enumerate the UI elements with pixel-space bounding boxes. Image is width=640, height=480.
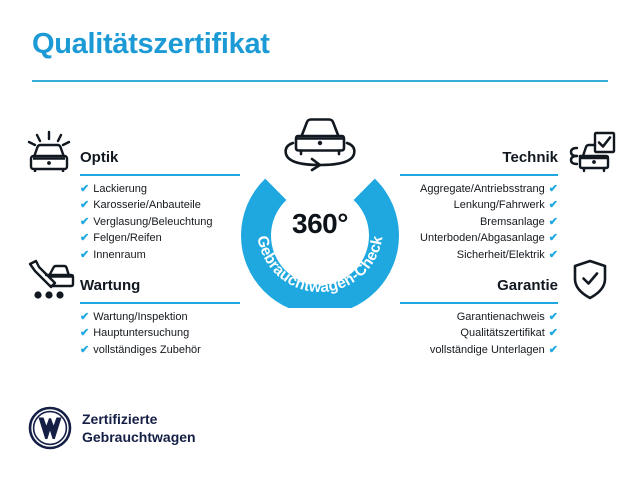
check-icon: ✔	[549, 232, 558, 244]
section-title: Wartung	[80, 277, 140, 294]
check-icon: ✔	[549, 183, 558, 195]
list-item: vollständige Unterlagen✔	[400, 342, 616, 358]
footer-text: Zertifizierte Gebrauchtwagen	[82, 410, 196, 446]
footer-line-2: Gebrauchtwagen	[82, 428, 196, 446]
list-item: Aggregate/Antriebsstrang✔	[400, 181, 616, 197]
section-rule	[80, 302, 240, 304]
list-item-label: Karosserie/Anbauteile	[93, 199, 201, 211]
list-item-label: vollständige Unterlagen	[430, 344, 545, 356]
list-item: ✔Karosserie/Anbauteile	[24, 197, 240, 213]
check-icon: ✔	[80, 327, 89, 339]
list-item-label: Garantienachweis	[457, 311, 545, 323]
section-rule	[400, 302, 558, 304]
check-icon: ✔	[80, 311, 89, 323]
list-item: Garantienachweis✔	[400, 309, 616, 325]
check-icon: ✔	[80, 183, 89, 195]
list-item-label: Felgen/Reifen	[93, 232, 162, 244]
list-item: Bremsanlage✔	[400, 214, 616, 230]
section-header: Optik	[24, 130, 240, 176]
check-icon: ✔	[549, 344, 558, 356]
car-rotate-icon	[278, 112, 362, 174]
list-item: ✔vollständiges Zubehör	[24, 342, 240, 358]
check-icon: ✔	[549, 216, 558, 228]
checklist: Aggregate/Antriebsstrang✔ Lenkung/Fahrwe…	[400, 176, 616, 263]
list-item-label: Lackierung	[93, 183, 147, 195]
list-item-label: Qualitätszertifikat	[460, 327, 544, 339]
check-icon: ✔	[549, 199, 558, 211]
list-item: ✔Verglasung/Beleuchtung	[24, 214, 240, 230]
page-title: Qualitätszertifikat	[32, 28, 270, 61]
list-item: ✔Lackierung	[24, 181, 240, 197]
list-item-label: Unterboden/Abgasanlage	[420, 232, 545, 244]
section-title: Technik	[502, 149, 558, 166]
section-rule	[80, 174, 240, 176]
section-header: Wartung	[24, 258, 240, 304]
section-optik: Optik ✔Lackierung ✔Karosserie/Anbauteile…	[24, 130, 240, 263]
list-item: ✔Felgen/Reifen	[24, 230, 240, 246]
car-shine-icon	[24, 130, 76, 174]
list-item-label: Wartung/Inspektion	[93, 311, 187, 323]
section-rule	[400, 174, 558, 176]
car-checkbox-icon	[564, 130, 616, 174]
footer-line-1: Zertifizierte	[82, 410, 196, 428]
list-item-label: Lenkung/Fahrwerk	[454, 199, 545, 211]
section-wartung: Wartung ✔Wartung/Inspektion ✔Hauptunters…	[24, 258, 240, 358]
list-item-label: Verglasung/Beleuchtung	[93, 216, 212, 228]
check-icon: ✔	[80, 232, 89, 244]
checklist: Garantienachweis✔ Qualitätszertifikat✔ v…	[400, 304, 616, 358]
check-icon: ✔	[80, 344, 89, 356]
check-icon: ✔	[549, 311, 558, 323]
certificate-page: Qualitätszertifikat	[0, 0, 640, 480]
section-title: Optik	[80, 149, 118, 166]
check-icon: ✔	[549, 327, 558, 339]
checklist: ✔Wartung/Inspektion ✔Hauptuntersuchung ✔…	[24, 304, 240, 358]
section-header: Garantie	[400, 258, 616, 304]
vw-logo-icon	[28, 406, 72, 450]
list-item-label: vollständiges Zubehör	[93, 344, 201, 356]
car-wrench-icon	[24, 258, 76, 302]
badge-360-check: Gebrauchtwagen-Check 360°	[232, 112, 408, 308]
badge-center-label: 360°	[232, 208, 408, 240]
list-item: ✔Hauptuntersuchung	[24, 325, 240, 341]
section-technik: Technik Aggregate/Antriebsstrang✔ Lenkun…	[400, 130, 616, 263]
list-item: Lenkung/Fahrwerk✔	[400, 197, 616, 213]
list-item: Unterboden/Abgasanlage✔	[400, 230, 616, 246]
list-item-label: Bremsanlage	[480, 216, 545, 228]
header-divider	[32, 80, 608, 82]
section-garantie: Garantie Garantienachweis✔ Qualitätszert…	[400, 258, 616, 358]
checklist: ✔Lackierung ✔Karosserie/Anbauteile ✔Verg…	[24, 176, 240, 263]
check-icon: ✔	[80, 216, 89, 228]
shield-check-icon	[564, 258, 616, 302]
list-item-label: Hauptuntersuchung	[93, 327, 189, 339]
section-title: Garantie	[497, 277, 558, 294]
check-icon: ✔	[80, 199, 89, 211]
list-item-label: Aggregate/Antriebsstrang	[420, 183, 545, 195]
footer-brand: Zertifizierte Gebrauchtwagen	[28, 404, 328, 460]
list-item: Qualitätszertifikat✔	[400, 325, 616, 341]
list-item: ✔Wartung/Inspektion	[24, 309, 240, 325]
section-header: Technik	[400, 130, 616, 176]
